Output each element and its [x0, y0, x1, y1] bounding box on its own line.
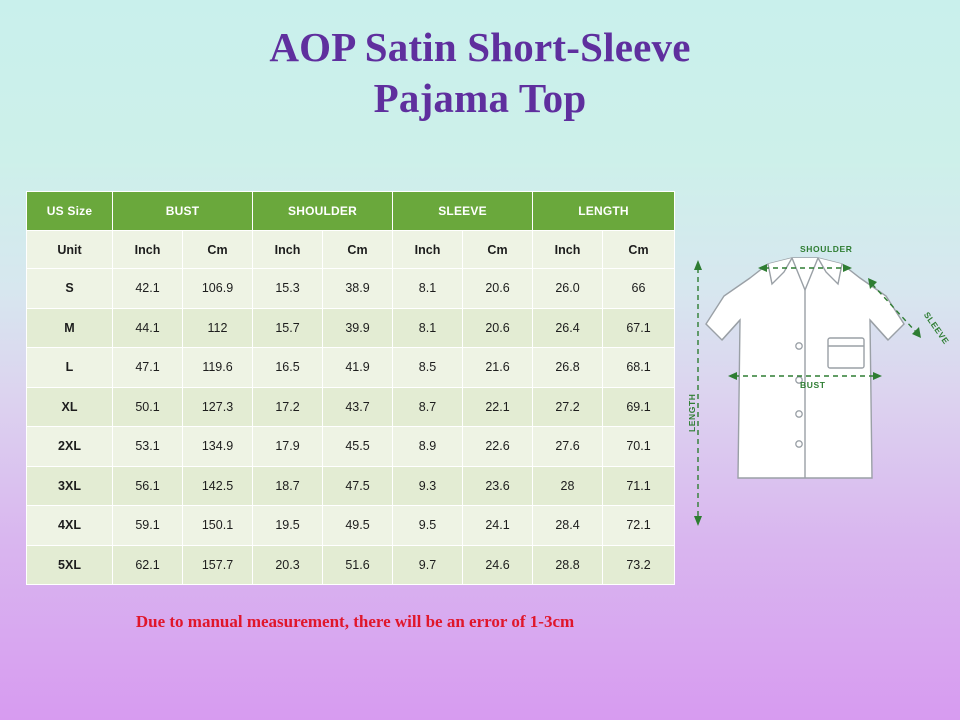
cell-sleeve-cm: 21.6: [463, 348, 533, 388]
cell-sleeve-inch: 9.3: [393, 466, 463, 506]
table-row: L 47.1 119.6 16.5 41.9 8.5 21.6 26.8 68.…: [27, 348, 675, 388]
group-header-length: LENGTH: [533, 192, 675, 231]
cell-bust-cm: 157.7: [183, 545, 253, 585]
group-header-us-size: US Size: [27, 192, 113, 231]
cell-bust-inch: 62.1: [113, 545, 183, 585]
cell-shoulder-cm: 51.6: [323, 545, 393, 585]
table-row: 2XL 53.1 134.9 17.9 45.5 8.9 22.6 27.6 7…: [27, 427, 675, 467]
cell-shoulder-cm: 49.5: [323, 506, 393, 546]
cell-shoulder-cm: 43.7: [323, 387, 393, 427]
cell-sleeve-inch: 8.1: [393, 308, 463, 348]
page-title-line-2: Pajama Top: [0, 73, 960, 124]
cell-sleeve-cm: 22.6: [463, 427, 533, 467]
unit-label: Unit: [27, 231, 113, 269]
cell-shoulder-cm: 39.9: [323, 308, 393, 348]
cell-bust-inch: 59.1: [113, 506, 183, 546]
cell-length-cm: 73.2: [603, 545, 675, 585]
cell-bust-inch: 50.1: [113, 387, 183, 427]
row-size: 3XL: [27, 466, 113, 506]
size-table: US Size BUST SHOULDER SLEEVE LENGTH Unit…: [26, 191, 675, 585]
cell-shoulder-inch: 20.3: [253, 545, 323, 585]
cell-shoulder-cm: 38.9: [323, 269, 393, 309]
cell-sleeve-cm: 20.6: [463, 269, 533, 309]
unit-length-cm: Cm: [603, 231, 675, 269]
cell-sleeve-cm: 22.1: [463, 387, 533, 427]
row-size: M: [27, 308, 113, 348]
table-row: 5XL 62.1 157.7 20.3 51.6 9.7 24.6 28.8 7…: [27, 545, 675, 585]
cell-bust-cm: 119.6: [183, 348, 253, 388]
cell-shoulder-inch: 17.2: [253, 387, 323, 427]
shoulder-dimension-label: SHOULDER: [800, 244, 853, 254]
cell-length-inch: 26.0: [533, 269, 603, 309]
cell-length-inch: 27.6: [533, 427, 603, 467]
unit-shoulder-cm: Cm: [323, 231, 393, 269]
unit-shoulder-inch: Inch: [253, 231, 323, 269]
cell-shoulder-inch: 15.3: [253, 269, 323, 309]
cell-length-inch: 28.4: [533, 506, 603, 546]
length-dimension-label: LENGTH: [687, 393, 697, 432]
cell-sleeve-inch: 9.7: [393, 545, 463, 585]
unit-sleeve-inch: Inch: [393, 231, 463, 269]
size-chart-page: AOP Satin Short-Sleeve Pajama Top US Siz…: [0, 0, 960, 720]
row-size: L: [27, 348, 113, 388]
shirt-illustration: [706, 258, 904, 478]
cell-bust-inch: 53.1: [113, 427, 183, 467]
cell-sleeve-inch: 8.1: [393, 269, 463, 309]
unit-bust-cm: Cm: [183, 231, 253, 269]
table-row: 4XL 59.1 150.1 19.5 49.5 9.5 24.1 28.4 7…: [27, 506, 675, 546]
cell-length-cm: 68.1: [603, 348, 675, 388]
cell-bust-inch: 44.1: [113, 308, 183, 348]
cell-length-cm: 70.1: [603, 427, 675, 467]
cell-bust-cm: 106.9: [183, 269, 253, 309]
measurement-disclaimer: Due to manual measurement, there will be…: [0, 612, 710, 632]
group-header-bust: BUST: [113, 192, 253, 231]
cell-bust-cm: 134.9: [183, 427, 253, 467]
size-table-container: US Size BUST SHOULDER SLEEVE LENGTH Unit…: [26, 191, 674, 585]
cell-bust-inch: 42.1: [113, 269, 183, 309]
table-row: 3XL 56.1 142.5 18.7 47.5 9.3 23.6 28 71.…: [27, 466, 675, 506]
cell-sleeve-inch: 9.5: [393, 506, 463, 546]
unit-row: Unit Inch Cm Inch Cm Inch Cm Inch Cm: [27, 231, 675, 269]
table-row: M 44.1 112 15.7 39.9 8.1 20.6 26.4 67.1: [27, 308, 675, 348]
group-header-shoulder: SHOULDER: [253, 192, 393, 231]
cell-length-inch: 26.4: [533, 308, 603, 348]
cell-length-cm: 67.1: [603, 308, 675, 348]
cell-bust-cm: 127.3: [183, 387, 253, 427]
unit-sleeve-cm: Cm: [463, 231, 533, 269]
row-size: XL: [27, 387, 113, 427]
cell-sleeve-cm: 20.6: [463, 308, 533, 348]
cell-sleeve-inch: 8.9: [393, 427, 463, 467]
group-header-sleeve: SLEEVE: [393, 192, 533, 231]
size-table-head: US Size BUST SHOULDER SLEEVE LENGTH: [27, 192, 675, 231]
cell-length-inch: 26.8: [533, 348, 603, 388]
cell-bust-cm: 142.5: [183, 466, 253, 506]
cell-shoulder-inch: 15.7: [253, 308, 323, 348]
cell-bust-inch: 47.1: [113, 348, 183, 388]
row-size: 2XL: [27, 427, 113, 467]
cell-length-cm: 71.1: [603, 466, 675, 506]
row-size: S: [27, 269, 113, 309]
cell-sleeve-cm: 23.6: [463, 466, 533, 506]
cell-length-cm: 69.1: [603, 387, 675, 427]
cell-length-cm: 72.1: [603, 506, 675, 546]
cell-shoulder-cm: 41.9: [323, 348, 393, 388]
cell-sleeve-cm: 24.1: [463, 506, 533, 546]
cell-length-inch: 28: [533, 466, 603, 506]
unit-bust-inch: Inch: [113, 231, 183, 269]
cell-sleeve-inch: 8.5: [393, 348, 463, 388]
row-size: 5XL: [27, 545, 113, 585]
cell-shoulder-inch: 19.5: [253, 506, 323, 546]
cell-shoulder-inch: 17.9: [253, 427, 323, 467]
cell-shoulder-inch: 16.5: [253, 348, 323, 388]
cell-shoulder-cm: 45.5: [323, 427, 393, 467]
page-title-line-1: AOP Satin Short-Sleeve: [0, 22, 960, 73]
page-title: AOP Satin Short-Sleeve Pajama Top: [0, 22, 960, 125]
cell-bust-cm: 112: [183, 308, 253, 348]
row-size: 4XL: [27, 506, 113, 546]
group-header-row: US Size BUST SHOULDER SLEEVE LENGTH: [27, 192, 675, 231]
unit-length-inch: Inch: [533, 231, 603, 269]
cell-length-inch: 27.2: [533, 387, 603, 427]
table-row: S 42.1 106.9 15.3 38.9 8.1 20.6 26.0 66: [27, 269, 675, 309]
cell-sleeve-inch: 8.7: [393, 387, 463, 427]
cell-bust-cm: 150.1: [183, 506, 253, 546]
bust-dimension-label: BUST: [800, 380, 826, 390]
cell-length-cm: 66: [603, 269, 675, 309]
table-row: XL 50.1 127.3 17.2 43.7 8.7 22.1 27.2 69…: [27, 387, 675, 427]
cell-length-inch: 28.8: [533, 545, 603, 585]
cell-bust-inch: 56.1: [113, 466, 183, 506]
cell-shoulder-inch: 18.7: [253, 466, 323, 506]
cell-shoulder-cm: 47.5: [323, 466, 393, 506]
size-table-body: Unit Inch Cm Inch Cm Inch Cm Inch Cm S 4…: [27, 231, 675, 585]
cell-sleeve-cm: 24.6: [463, 545, 533, 585]
